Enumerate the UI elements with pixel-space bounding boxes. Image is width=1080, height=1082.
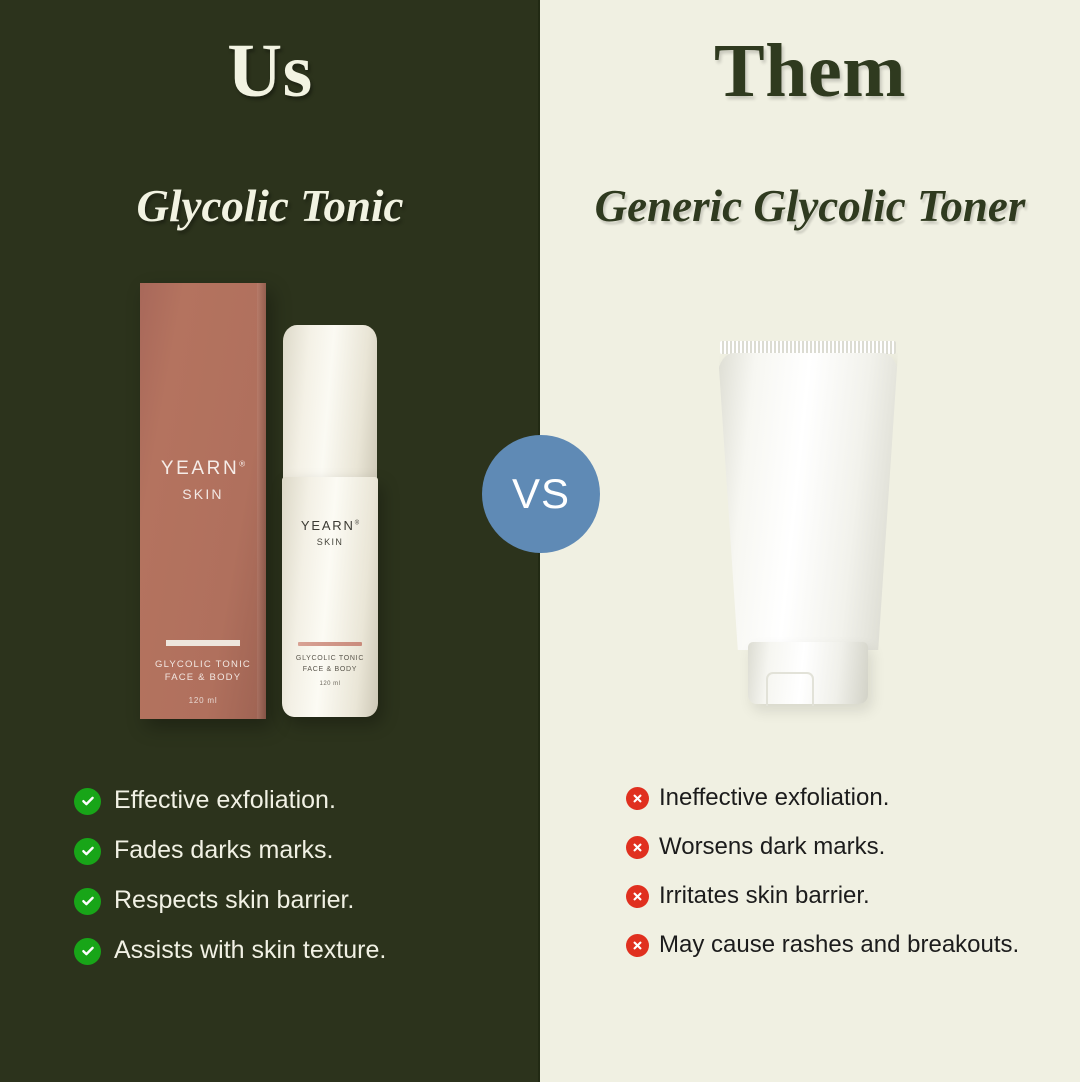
check-icon (74, 938, 101, 965)
check-icon (74, 788, 101, 815)
bottle-volume-label: 120 ml (282, 681, 378, 687)
check-icon (74, 888, 101, 915)
list-item-label: Ineffective exfoliation. (659, 785, 889, 811)
list-item: Fades darks marks. (74, 826, 524, 876)
cross-icon (626, 787, 649, 810)
bottle-brand-sub-label: SKIN (282, 537, 378, 547)
bottle-cap (283, 325, 377, 483)
list-item: Ineffective exfoliation. (626, 774, 1046, 823)
box-brand-label: YEARN® (140, 458, 266, 480)
check-icon (74, 838, 101, 865)
list-item: Assists with skin texture. (74, 926, 524, 976)
list-item: Worsens dark marks. (626, 823, 1046, 872)
vs-badge: VS (482, 435, 600, 553)
comparison-infographic: Us Them Glycolic Tonic Generic Glycolic … (0, 0, 1080, 1082)
product-generic-tube (718, 341, 898, 710)
tube-cap-notch (766, 672, 814, 706)
list-item: Effective exfoliation. (74, 776, 524, 826)
list-item-label: Assists with skin texture. (114, 937, 386, 965)
box-brand-text: YEARN (161, 458, 239, 479)
list-item: Irritates skin barrier. (626, 872, 1046, 921)
drawbacks-list-them: Ineffective exfoliation. Worsens dark ma… (626, 774, 1046, 970)
list-item-label: May cause rashes and breakouts. (659, 932, 1019, 958)
list-item: Respects skin barrier. (74, 876, 524, 926)
box-product-name: GLYCOLIC TONIC FACE & BODY (140, 659, 266, 685)
product-carton-box: YEARN® SKIN GLYCOLIC TONIC FACE & BODY 1… (140, 283, 266, 719)
bottle-product-name-text: GLYCOLIC TONIC (296, 655, 364, 662)
cross-icon (626, 885, 649, 908)
subheading-them-product: Generic Glycolic Toner (580, 180, 1040, 232)
bottle-brand-label: YEARN® (282, 518, 378, 533)
tube-body (718, 353, 898, 650)
list-item-label: Effective exfoliation. (114, 787, 336, 815)
list-item-label: Respects skin barrier. (114, 887, 354, 915)
box-accent-bar (166, 640, 240, 646)
list-item-label: Irritates skin barrier. (659, 883, 870, 909)
heading-them: Them (540, 28, 1080, 115)
bottle-brand-text: YEARN (301, 518, 355, 533)
list-item: May cause rashes and breakouts. (626, 921, 1046, 970)
bottle-product-use-text: FACE & BODY (303, 666, 357, 673)
box-brand-sub-label: SKIN (140, 486, 266, 502)
subheading-us-product: Glycolic Tonic (40, 180, 500, 232)
vs-label: VS (512, 470, 570, 518)
bottle-accent-bar (298, 642, 362, 646)
box-product-name-text: GLYCOLIC TONIC (155, 659, 251, 670)
registered-mark-icon: ® (355, 521, 359, 527)
list-item-label: Fades darks marks. (114, 837, 334, 865)
cross-icon (626, 836, 649, 859)
product-bottle: YEARN® SKIN GLYCOLIC TONIC FACE & BODY 1… (282, 325, 378, 717)
heading-us: Us (0, 28, 540, 115)
cross-icon (626, 934, 649, 957)
box-volume-label: 120 ml (140, 696, 266, 705)
box-product-use-text: FACE & BODY (165, 672, 242, 683)
bottle-product-name: GLYCOLIC TONIC FACE & BODY (282, 654, 378, 675)
list-item-label: Worsens dark marks. (659, 834, 885, 860)
benefits-list-us: Effective exfoliation. Fades darks marks… (74, 776, 524, 976)
tube-crimp-seal (720, 341, 896, 354)
registered-mark-icon: ® (239, 460, 245, 469)
